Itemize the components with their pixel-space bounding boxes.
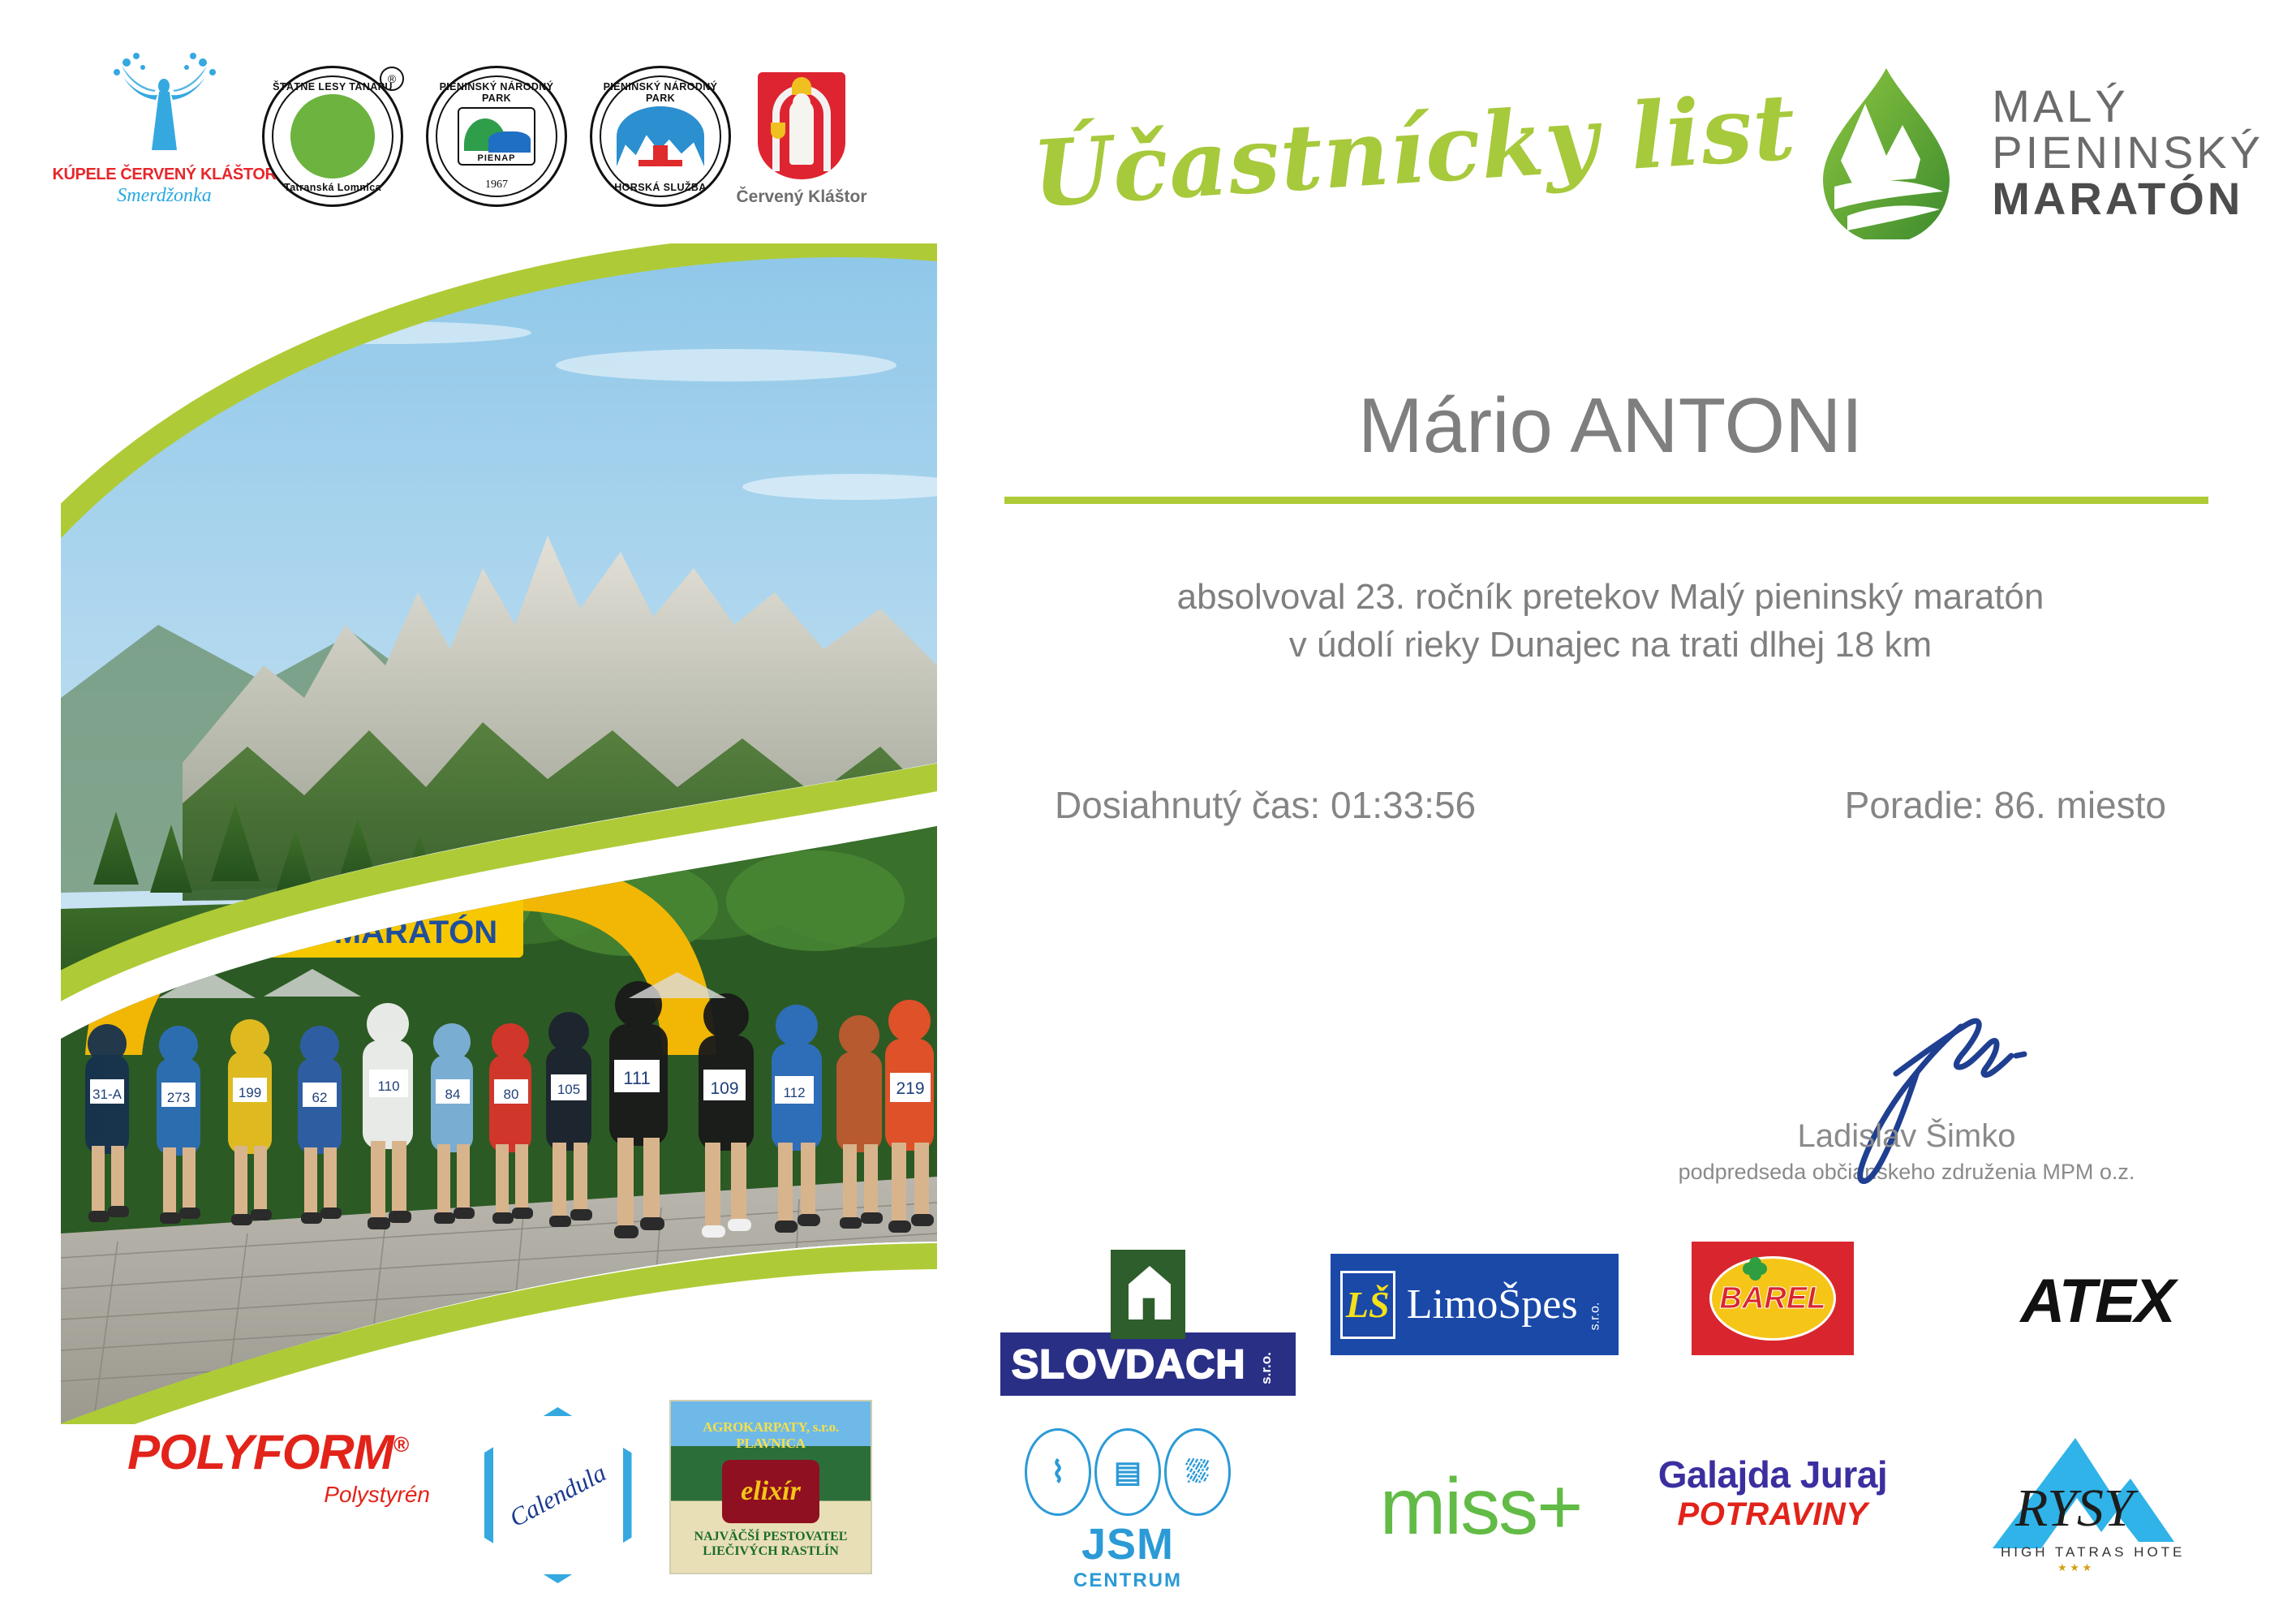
angel-water-icon [89, 45, 239, 166]
chamois-seal-icon: ŠTÁTNE LESY TANAPU Tatranská Lomnica ® [262, 66, 403, 207]
event-logo-line3: MARATÓN [1992, 175, 2264, 222]
sponsor-agrokarpaty: AGROKARPATY, s.r.o. PLAVNICA elixír NAJV… [669, 1400, 872, 1574]
sponsor-slovdach: SLOVDACH s.r.o. [1022, 1250, 1274, 1396]
registered-mark-icon: ® [380, 67, 404, 91]
signatory-name: Ladislav Šimko [1647, 1118, 2166, 1155]
mountain-rescue-seal-icon: PIENINSKÝ NÁRODNÝ PARK HORSKÁ SLUŽBA [590, 66, 731, 207]
sponsor-limospes-sub: s.r.o. [1588, 1302, 1602, 1330]
event-logo: MALÝ PIENINSKÝ MARATÓN [1805, 65, 2264, 239]
sponsor-polyform-name: POLYFORM® [127, 1424, 408, 1480]
partner-label-kupele: KÚPELE ČERVENÝ KLÁŠTOR [52, 166, 276, 183]
rank-placement: Poradie: 86. miesto [1845, 783, 2166, 827]
sponsor-agrokarpaty-tag2: LIEČIVÝCH RASTLÍN [703, 1544, 839, 1559]
calendula-hex-icon: Calendula [484, 1407, 632, 1583]
svg-text:★ ★ ★: ★ ★ ★ [2057, 1561, 2092, 1573]
svg-text:62: 62 [312, 1090, 328, 1105]
sponsor-calendula: Calendula [483, 1412, 633, 1578]
partner-logo-cerveny-klastor: Červený Kláštor [754, 72, 849, 207]
svg-text:31-A: 31-A [92, 1087, 123, 1102]
svg-text:RYSY: RYSY [2014, 1479, 2139, 1538]
paint-brush-icon: ⌇ [1025, 1428, 1091, 1516]
handwritten-signature-icon [1647, 1010, 2166, 1136]
partner-sublabel-smerdzonka: Smerdžonka [117, 185, 211, 207]
svg-text:110: 110 [377, 1078, 399, 1094]
svg-text:112: 112 [783, 1085, 805, 1100]
svg-text:105: 105 [557, 1082, 580, 1097]
sponsor-agrokarpaty-product: elixír [741, 1476, 801, 1507]
sponsor-miss-plus: miss+ [1347, 1461, 1615, 1552]
sponsor-limospes-name: LimoŠpes [1407, 1281, 1578, 1328]
svg-text:273: 273 [167, 1090, 190, 1105]
partner-logo-pieninsky-narodny-park: PIENAP PIENINSKÝ NÁRODNÝ PARK 1967 [426, 66, 567, 207]
sponsor-agrokarpaty-name: AGROKARPATY, s.r.o. PLAVNICA [671, 1419, 871, 1452]
limospes-initials: LŠ [1346, 1283, 1390, 1326]
sponsor-atex-name: ATEX [2020, 1266, 2173, 1337]
svg-text:219: 219 [896, 1079, 924, 1098]
certificate-description: absolvoval 23. ročník pretekov Malý pien… [1006, 573, 2215, 669]
page-title: Účastnícky list [1030, 78, 1735, 276]
seal-top-text: PIENINSKÝ NÁRODNÝ PARK [592, 81, 729, 104]
shower-icon: ⛆ [1164, 1428, 1231, 1516]
sponsor-polyform-sub: Polystyrén [324, 1482, 430, 1508]
runner-name: Mário ANTONI [1006, 381, 2215, 471]
sponsor-atex: ATEX [1963, 1266, 2231, 1337]
finish-time: Dosiahnutý čas: 01:33:56 [1055, 783, 1476, 827]
svg-text:111: 111 [623, 1068, 650, 1088]
rysy-mountain-icon: RYSY HIGH TATRAS HOTEL ★ ★ ★ [1980, 1428, 2182, 1574]
partner-logo-row: KÚPELE ČERVENÝ KLÁŠTOR Smerdžonka ŠTÁTNE… [89, 45, 849, 207]
pienap-mark-label: PIENAP [459, 153, 534, 163]
sponsor-slovdach-sub: s.r.o. [1258, 1352, 1275, 1384]
sponsor-slovdach-name: SLOVDACH [1012, 1341, 1246, 1388]
partner-logo-horska-sluzba: PIENINSKÝ NÁRODNÝ PARK HORSKÁ SLUŽBA [590, 66, 731, 207]
event-logo-line2: PIENINSKÝ [1992, 129, 2264, 175]
title-divider [1004, 497, 2208, 504]
event-logo-wordmark: MALÝ PIENINSKÝ MARATÓN [1992, 83, 2264, 222]
sponsor-barel-name: BAREL [1720, 1281, 1826, 1316]
seal-top-text: PIENINSKÝ NÁRODNÝ PARK [428, 81, 565, 104]
sponsor-calendula-name: Calendula [505, 1457, 611, 1532]
elixir-badge-icon: elixír [722, 1460, 819, 1523]
svg-text:80: 80 [504, 1087, 519, 1102]
certificate-page: KÚPELE ČERVENÝ KLÁŠTOR Smerdžonka ŠTÁTNE… [0, 0, 2296, 1623]
seal-bottom-text: HORSKÁ SLUŽBA [592, 182, 729, 193]
partner-label-cerveny-klastor: Červený Kláštor [736, 187, 866, 207]
coat-of-arms-icon [758, 72, 845, 179]
sponsor-agrokarpaty-tag1: NAJVÄČŠÍ PESTOVATEĽ [694, 1530, 848, 1544]
mountain-leaf-droplet-icon [1805, 65, 1967, 239]
sponsor-miss-plus-name: miss+ [1380, 1461, 1582, 1552]
signature-block: Ladislav Šimko podpredseda občianskeho z… [1647, 1010, 2166, 1185]
photo-collage: MARATÓN MALÝ PIENINSKÝ MARATÓN [61, 243, 937, 1424]
barel-ellipse-icon: BAREL [1709, 1256, 1836, 1341]
svg-text:84: 84 [445, 1087, 461, 1102]
limospes-mark-icon: LŠ [1340, 1271, 1395, 1339]
sponsor-rysy-hotel: RYSY HIGH TATRAS HOTEL ★ ★ ★ [1980, 1428, 2182, 1574]
sponsor-barel: BAREL [1692, 1242, 1854, 1355]
sponsor-galajda-sub: POTRAVINY [1678, 1496, 1868, 1533]
sponsor-galajda-name: Galajda Juraj [1658, 1453, 1887, 1496]
description-line-1: absolvoval 23. ročník pretekov Malý pien… [1006, 573, 2215, 621]
sponsor-jsm-centrum: ⌇ ▤ ⛆ JSM CENTRUM [1018, 1428, 1237, 1592]
sponsor-jsm-name: JSM [1081, 1519, 1174, 1569]
svg-text:199: 199 [239, 1085, 261, 1100]
clover-icon [1743, 1257, 1767, 1281]
partner-logo-kupele-cerveny-klastor: KÚPELE ČERVENÝ KLÁŠTOR Smerdžonka [89, 45, 239, 207]
svg-text:HIGH TATRAS HOTEL: HIGH TATRAS HOTEL [2001, 1544, 2182, 1560]
sponsor-jsm-sub: CENTRUM [1073, 1569, 1182, 1592]
partner-logo-statne-lesy-tanapu: ŠTÁTNE LESY TANAPU Tatranská Lomnica ® [262, 66, 403, 207]
jsm-icons: ⌇ ▤ ⛆ [1025, 1428, 1231, 1516]
sponsor-limospes: LŠ LimoŠpes s.r.o. [1331, 1254, 1619, 1355]
svg-text:109: 109 [710, 1079, 738, 1098]
sponsor-galajda-juraj: Galajda Juraj POTRAVINY [1647, 1453, 1898, 1533]
result-stats: Dosiahnutý čas: 01:33:56 Poradie: 86. mi… [1006, 783, 2215, 827]
sponsor-polyform: POLYFORM® Polystyrén [105, 1424, 430, 1508]
paint-roller-icon: ▤ [1094, 1428, 1161, 1516]
pienap-seal-icon: PIENAP PIENINSKÝ NÁRODNÝ PARK 1967 [426, 66, 567, 207]
roof-house-icon [1111, 1250, 1185, 1339]
seal-year: 1967 [428, 179, 565, 192]
description-line-2: v údolí rieky Dunajec na trati dlhej 18 … [1006, 621, 2215, 669]
seal-bottom-text: Tatranská Lomnica [264, 182, 401, 193]
event-logo-line1: MALÝ [1992, 83, 2264, 129]
